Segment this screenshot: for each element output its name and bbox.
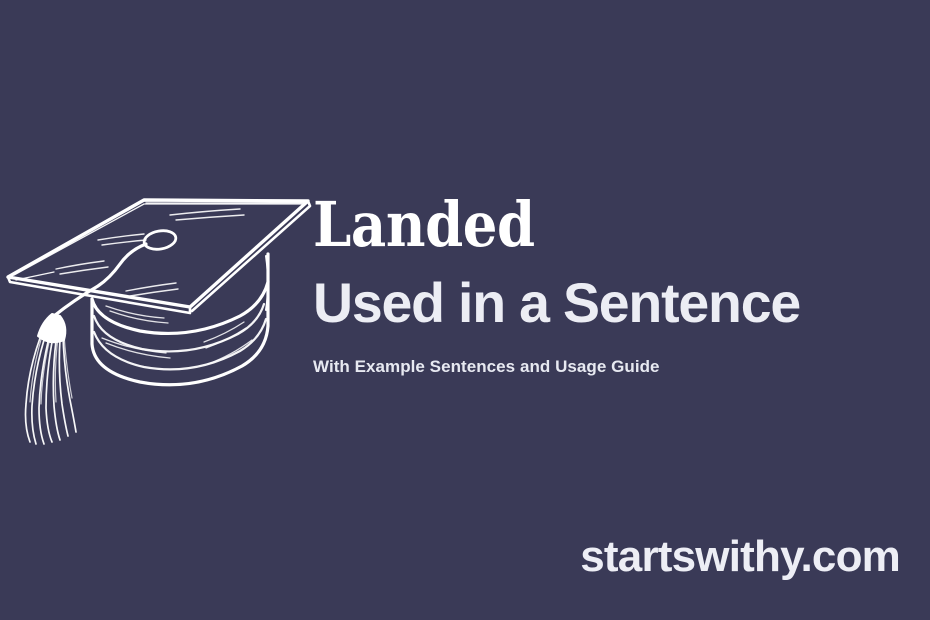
headline: Used in a Sentence	[313, 272, 907, 334]
tagline: With Example Sentences and Usage Guide	[313, 356, 913, 378]
page-title: Landed	[313, 192, 841, 258]
graduation-cap-icon	[0, 176, 324, 466]
brand-watermark: startswithy.com	[580, 532, 900, 582]
text-block: Landed Used in a Sentence With Example S…	[313, 192, 913, 378]
poster-canvas: Landed Used in a Sentence With Example S…	[0, 0, 930, 620]
